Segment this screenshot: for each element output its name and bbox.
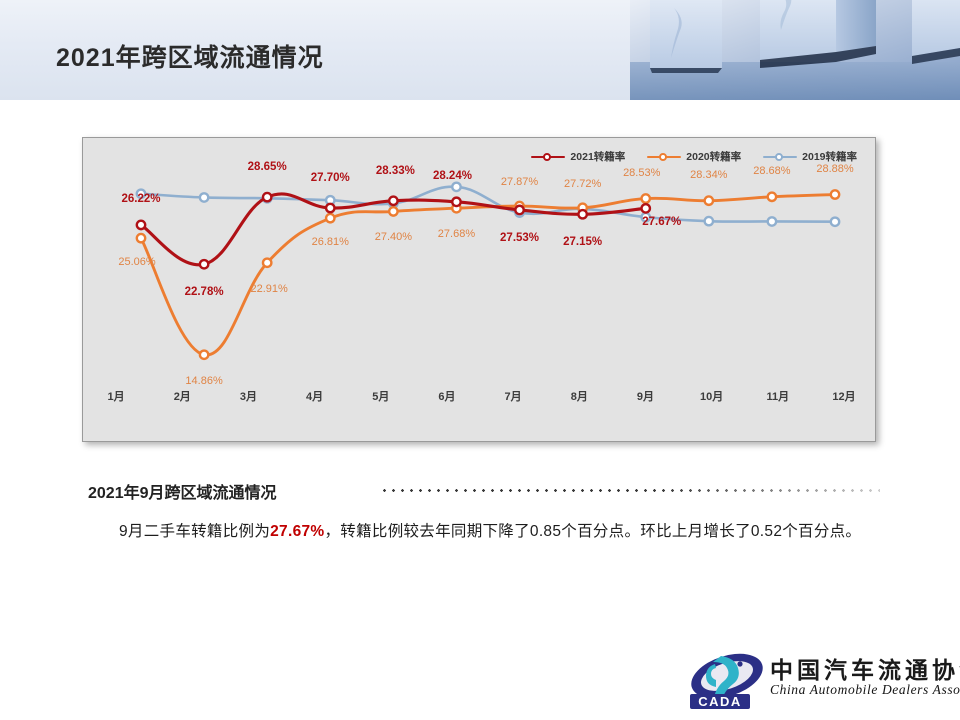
data-label-2021转籍率-3月: 28.65% [248, 161, 287, 173]
x-tick-7: 7月 [480, 388, 546, 412]
data-label-2020转籍率-9月: 28.53% [623, 167, 660, 179]
page-title: 2021年跨区域流通情况 [56, 38, 324, 74]
data-label-2021转籍率-9月: 27.67% [642, 216, 681, 228]
data-point-marker [200, 351, 208, 359]
data-label-2020转籍率-3月: 22.91% [251, 283, 288, 295]
data-label-2021转籍率-8月: 27.15% [563, 236, 602, 248]
section-body-text: 9月二手车转籍比例为27.67%，转籍比例较去年同期下降了0.85个百分点。环比… [88, 515, 888, 549]
data-label-2021转籍率-6月: 28.24% [433, 170, 472, 182]
data-label-2020转籍率-1月: 25.06% [118, 256, 155, 268]
data-point-marker [389, 207, 397, 215]
data-point-marker [642, 204, 650, 212]
x-tick-8: 8月 [546, 388, 612, 412]
x-tick-9: 9月 [612, 388, 678, 412]
data-label-2020转籍率-11月: 28.68% [753, 165, 790, 177]
data-point-marker [200, 260, 208, 268]
x-tick-1: 1月 [83, 388, 149, 412]
cada-emblem-icon: CADA [688, 650, 766, 712]
section-title: 2021年9月跨区域流通情况 [88, 479, 277, 503]
x-tick-12: 12月 [811, 388, 877, 412]
data-label-2021转籍率-2月: 22.78% [185, 286, 224, 298]
logo-name-cn: 中国汽车流通协会 [770, 651, 960, 685]
header-decoration-image [630, 0, 960, 100]
x-tick-6: 6月 [414, 388, 480, 412]
logo-name-en: China Automobile Dealers Association [770, 682, 960, 698]
data-point-marker [326, 204, 334, 212]
body-highlight-value: 27.67% [270, 523, 324, 540]
chart-x-axis: 1月2月3月4月5月6月7月8月9月10月11月12月 [83, 388, 877, 412]
data-label-2021转籍率-7月: 27.53% [500, 232, 539, 244]
data-point-marker [768, 193, 776, 201]
data-label-2020转籍率-5月: 27.40% [375, 231, 412, 243]
x-tick-10: 10月 [679, 388, 745, 412]
data-point-marker [642, 194, 650, 202]
data-label-2020转籍率-2月: 14.86% [185, 375, 222, 387]
data-label-2020转籍率-6月: 27.68% [438, 228, 475, 240]
data-point-marker [389, 197, 397, 205]
data-label-2021转籍率-5月: 28.33% [376, 165, 415, 177]
data-label-2020转籍率-8月: 27.72% [564, 178, 601, 190]
cada-logo: CADA 中国汽车流通协会 China Automobile Dealers A… [688, 650, 956, 716]
data-point-marker [263, 259, 271, 267]
data-label-2020转籍率-12月: 28.88% [816, 163, 853, 175]
data-point-marker [768, 217, 776, 225]
data-point-marker [705, 196, 713, 204]
data-point-marker [263, 193, 271, 201]
body-prefix: 9月二手车转籍比例为 [119, 523, 270, 540]
data-label-2020转籍率-4月: 26.81% [312, 236, 349, 248]
data-point-marker [200, 193, 208, 201]
data-point-marker [326, 214, 334, 222]
data-label-2020转籍率-7月: 27.87% [501, 176, 538, 188]
data-label-2021转籍率-1月: 26.22% [121, 193, 160, 205]
data-label-2020转籍率-10月: 28.34% [690, 169, 727, 181]
data-point-marker [831, 190, 839, 198]
data-point-marker [452, 183, 460, 191]
data-label-2021转籍率-4月: 27.70% [311, 172, 350, 184]
x-tick-2: 2月 [149, 388, 215, 412]
x-tick-4: 4月 [282, 388, 348, 412]
data-point-marker [137, 221, 145, 229]
x-tick-11: 11月 [745, 388, 811, 412]
data-point-marker [831, 218, 839, 226]
chart-panel: 2021转籍率 2020转籍率 2019转籍率 26.22%22.78%28.6… [82, 137, 876, 442]
x-tick-3: 3月 [215, 388, 281, 412]
logo-abbr-text: CADA [698, 694, 742, 709]
data-point-marker [705, 217, 713, 225]
section-divider-dots [380, 489, 880, 492]
body-suffix: ，转籍比例较去年同期下降了0.85个百分点。环比上月增长了0.52个百分点。 [325, 523, 862, 540]
x-tick-5: 5月 [348, 388, 414, 412]
data-point-marker [578, 210, 586, 218]
page-header: 2021年跨区域流通情况 [0, 0, 960, 100]
data-point-marker [137, 234, 145, 242]
data-point-marker [515, 206, 523, 214]
data-point-marker [452, 198, 460, 206]
